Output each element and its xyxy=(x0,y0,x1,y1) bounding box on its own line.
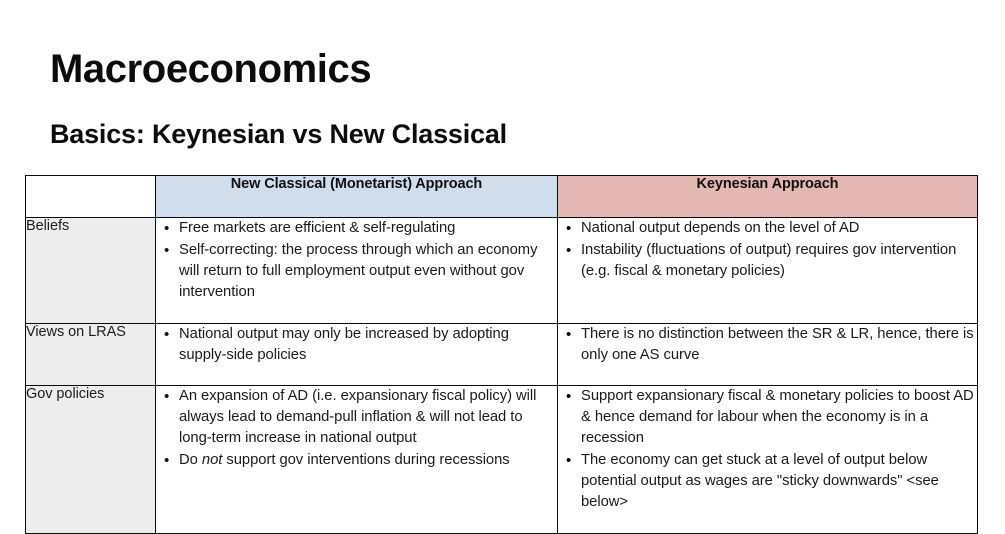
table-row: Gov policies An expansion of AD (i.e. ex… xyxy=(26,386,978,534)
row-label-views-on-lras: Views on LRAS xyxy=(26,324,156,386)
table-header-row: New Classical (Monetarist) Approach Keyn… xyxy=(26,176,978,218)
header-cell-blank xyxy=(26,176,156,218)
cell-beliefs-new-classical: Free markets are efficient & self-regula… xyxy=(156,218,558,324)
page-title: Macroeconomics xyxy=(50,48,371,90)
row-label-beliefs: Beliefs xyxy=(26,218,156,324)
text-before-emphasis: Do xyxy=(179,452,202,468)
list-item: The economy can get stuck at a level of … xyxy=(581,450,977,513)
list-item: Free markets are efficient & self-regula… xyxy=(179,218,557,239)
cell-lras-new-classical: National output may only be increased by… xyxy=(156,324,558,386)
text-after-emphasis: support gov interventions during recessi… xyxy=(222,452,509,468)
page-subtitle: Basics: Keynesian vs New Classical xyxy=(50,120,507,150)
bullet-list: National output depends on the level of … xyxy=(558,218,977,282)
comparison-table: New Classical (Monetarist) Approach Keyn… xyxy=(25,175,978,534)
list-item: Instability (fluctuations of output) req… xyxy=(581,240,977,282)
bullet-list: Support expansionary fiscal & monetary p… xyxy=(558,386,977,513)
list-item-emphasised: Do not support gov interventions during … xyxy=(179,450,557,471)
cell-gov-new-classical: An expansion of AD (i.e. expansionary fi… xyxy=(156,386,558,534)
list-item: National output may only be increased by… xyxy=(179,324,557,366)
cell-lras-keynesian: There is no distinction between the SR &… xyxy=(558,324,978,386)
header-cell-keynesian: Keynesian Approach xyxy=(558,176,978,218)
table-row: Beliefs Free markets are efficient & sel… xyxy=(26,218,978,324)
bullet-list: There is no distinction between the SR &… xyxy=(558,324,977,366)
list-item: An expansion of AD (i.e. expansionary fi… xyxy=(179,386,557,449)
header-cell-new-classical: New Classical (Monetarist) Approach xyxy=(156,176,558,218)
row-label-gov-policies: Gov policies xyxy=(26,386,156,534)
bullet-list: Free markets are efficient & self-regula… xyxy=(156,218,557,303)
bullet-list: An expansion of AD (i.e. expansionary fi… xyxy=(156,386,557,471)
emphasised-word: not xyxy=(202,452,222,468)
list-item: National output depends on the level of … xyxy=(581,218,977,239)
list-item: There is no distinction between the SR &… xyxy=(581,324,977,366)
cell-beliefs-keynesian: National output depends on the level of … xyxy=(558,218,978,324)
slide-page: Macroeconomics Basics: Keynesian vs New … xyxy=(0,0,1005,534)
list-item: Support expansionary fiscal & monetary p… xyxy=(581,386,977,449)
table-row: Views on LRAS National output may only b… xyxy=(26,324,978,386)
list-item: Self-correcting: the process through whi… xyxy=(179,240,557,303)
bullet-list: National output may only be increased by… xyxy=(156,324,557,366)
cell-gov-keynesian: Support expansionary fiscal & monetary p… xyxy=(558,386,978,534)
